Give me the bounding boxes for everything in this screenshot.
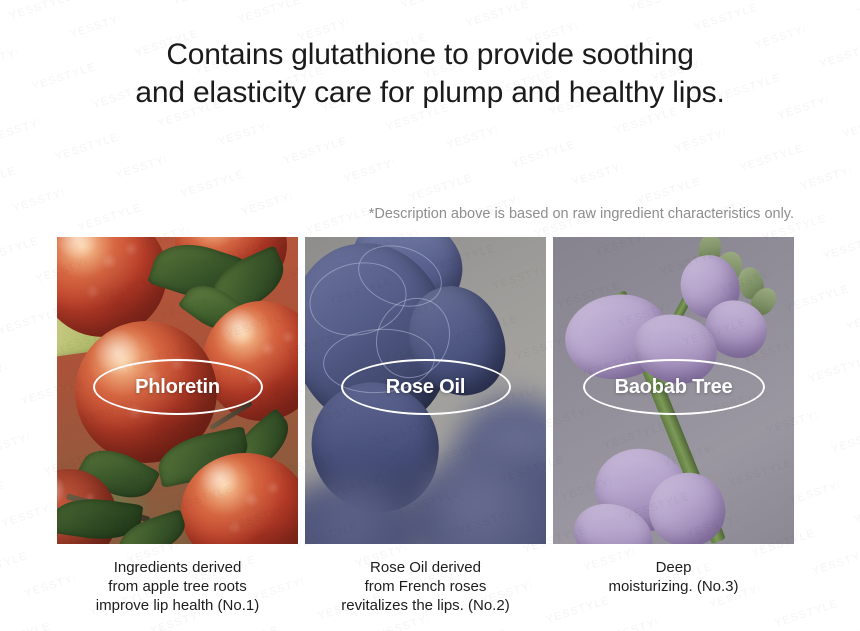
caption-line: Rose Oil derived [305, 558, 546, 577]
caption-line: Ingredients derived [57, 558, 298, 577]
headline-line-2: and elasticity care for plump and health… [0, 74, 860, 112]
ingredient-caption-row: Ingredients derived from apple tree root… [57, 558, 794, 624]
caption-rose-oil: Rose Oil derived from French roses revit… [305, 558, 546, 624]
ingredient-panel-phloretin: Phloretin [57, 237, 298, 544]
ingredient-label-text: Rose Oil [386, 376, 466, 399]
caption-line: from apple tree roots [57, 577, 298, 596]
caption-line: Deep [553, 558, 794, 577]
caption-line: moisturizing. (No.3) [553, 577, 794, 596]
ingredient-label-text: Baobab Tree [615, 376, 733, 399]
page-title: Contains glutathione to provide soothing… [0, 36, 860, 112]
product-ingredient-infographic: Contains glutathione to provide soothing… [0, 0, 860, 631]
ingredient-label-badge-baobab-tree: Baobab Tree [583, 359, 765, 415]
caption-baobab-tree: Deep moisturizing. (No.3) [553, 558, 794, 624]
caption-line: revitalizes the lips. (No.2) [305, 596, 546, 615]
ingredient-label-badge-phloretin: Phloretin [93, 359, 263, 415]
ingredient-label-text: Phloretin [135, 376, 220, 399]
ingredient-panel-baobab-tree: Baobab Tree [553, 237, 794, 544]
ingredient-label-badge-rose-oil: Rose Oil [341, 359, 511, 415]
headline-line-1: Contains glutathione to provide soothing [0, 36, 860, 74]
ingredient-panel-rose-oil: Rose Oil [305, 237, 546, 544]
caption-line: improve lip health (No.1) [57, 596, 298, 615]
caption-phloretin: Ingredients derived from apple tree root… [57, 558, 298, 624]
disclaimer-text: *Description above is based on raw ingre… [369, 206, 794, 222]
caption-line: from French roses [305, 577, 546, 596]
ingredient-panel-row: Phloretin Rose Oil [57, 237, 794, 544]
